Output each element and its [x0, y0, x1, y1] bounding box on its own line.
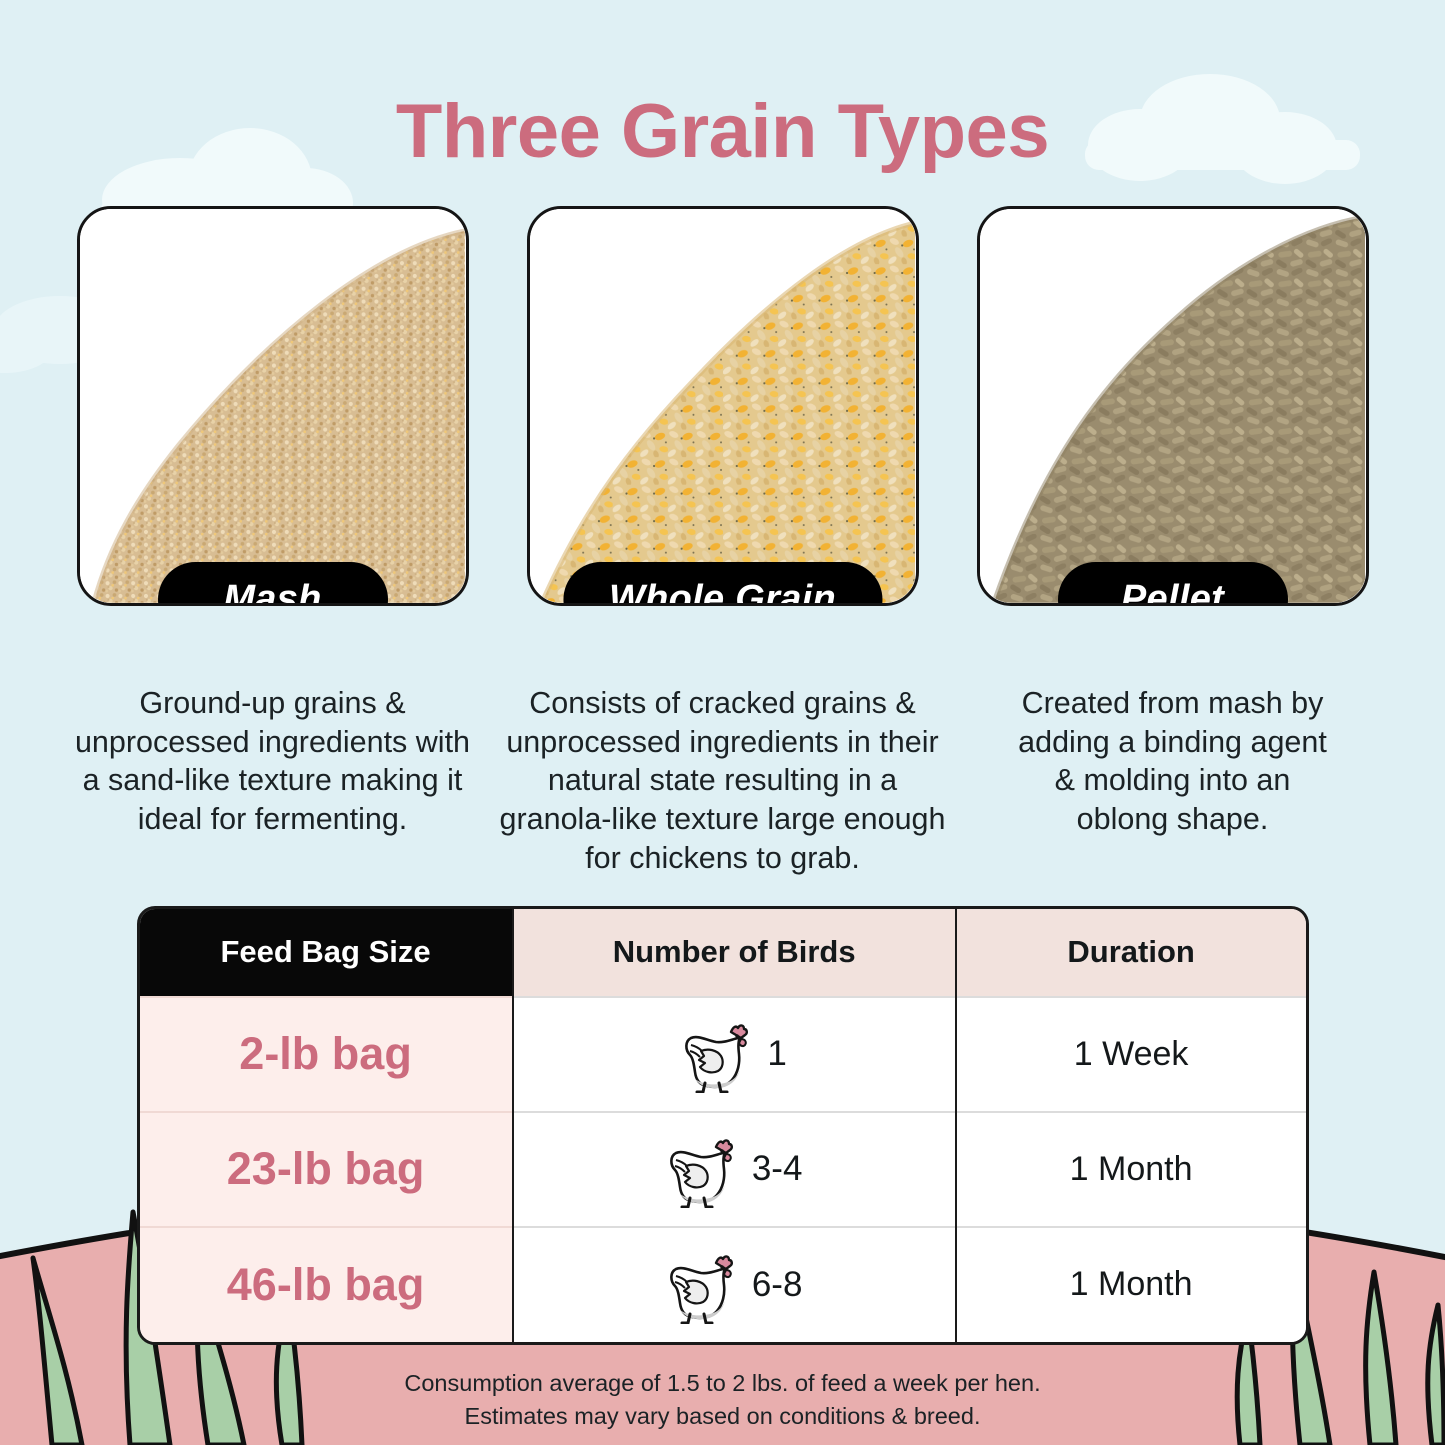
cell-duration: 1 Week — [956, 997, 1306, 1112]
grain-card-mash: Mash Ground-up grains & unprocessed ingr… — [77, 206, 469, 878]
whole-grain-photo-frame: Whole Grain — [527, 206, 919, 606]
cell-bag-size: 2-lb bag — [140, 997, 513, 1112]
whole-grain-label-pill: Whole Grain — [563, 562, 882, 606]
bird-count: 1 — [767, 1034, 786, 1074]
header-number-of-birds: Number of Birds — [513, 909, 956, 997]
mash-description: Ground-up grains & unprocessed ingredien… — [73, 684, 473, 839]
hen-icon — [681, 1015, 753, 1093]
grain-card-whole-grain: Whole Grain Consists of cracked grains &… — [527, 206, 919, 878]
page-title: Three Grain Types — [396, 94, 1049, 170]
bird-count: 6-8 — [752, 1265, 803, 1305]
pellet-photo-frame: Pellet — [977, 206, 1369, 606]
footnote-line-2: Estimates may vary based on conditions &… — [404, 1400, 1040, 1433]
mash-photo-frame: Mash — [77, 206, 469, 606]
cell-duration: 1 Month — [956, 1112, 1306, 1227]
cell-number-of-birds: 3-4 — [513, 1112, 956, 1227]
cell-bag-size: 23-lb bag — [140, 1112, 513, 1227]
cell-number-of-birds: 1 — [513, 997, 956, 1112]
feed-bag-table: Feed Bag Size Number of Birds Duration 2… — [137, 906, 1309, 1345]
bird-count: 3-4 — [752, 1149, 803, 1189]
hen-icon — [666, 1130, 738, 1208]
whole-grain-photo — [530, 209, 916, 603]
pellet-label: Pellet — [1121, 578, 1224, 606]
mash-label-pill: Mash — [158, 562, 388, 606]
header-duration: Duration — [956, 909, 1306, 997]
header-feed-bag-size: Feed Bag Size — [140, 909, 513, 997]
cell-bag-size: 46-lb bag — [140, 1227, 513, 1342]
whole-grain-label: Whole Grain — [609, 578, 836, 606]
pellet-photo — [980, 209, 1366, 603]
footnote-line-1: Consumption average of 1.5 to 2 lbs. of … — [404, 1367, 1040, 1400]
hen-icon — [666, 1246, 738, 1324]
table-row: 23-lb bag — [140, 1112, 1306, 1227]
grain-card-pellet: Pellet Created from mash by adding a bin… — [977, 206, 1369, 878]
grain-type-cards: Mash Ground-up grains & unprocessed ingr… — [78, 206, 1368, 878]
table-row: 2-lb bag — [140, 997, 1306, 1112]
footnote: Consumption average of 1.5 to 2 lbs. of … — [404, 1367, 1040, 1433]
mash-photo — [80, 209, 466, 603]
pellet-description: Created from mash by adding a binding ag… — [1008, 684, 1338, 839]
table-row: 46-lb bag — [140, 1227, 1306, 1342]
pellet-label-pill: Pellet — [1058, 562, 1288, 606]
table-header-row: Feed Bag Size Number of Birds Duration — [140, 909, 1306, 997]
cell-duration: 1 Month — [956, 1227, 1306, 1342]
whole-grain-description: Consists of cracked grains & unprocessed… — [497, 684, 949, 878]
cell-number-of-birds: 6-8 — [513, 1227, 956, 1342]
mash-label: Mash — [223, 578, 321, 606]
infographic-page: Three Grain Types Mash Ground-up grains … — [0, 0, 1445, 1445]
